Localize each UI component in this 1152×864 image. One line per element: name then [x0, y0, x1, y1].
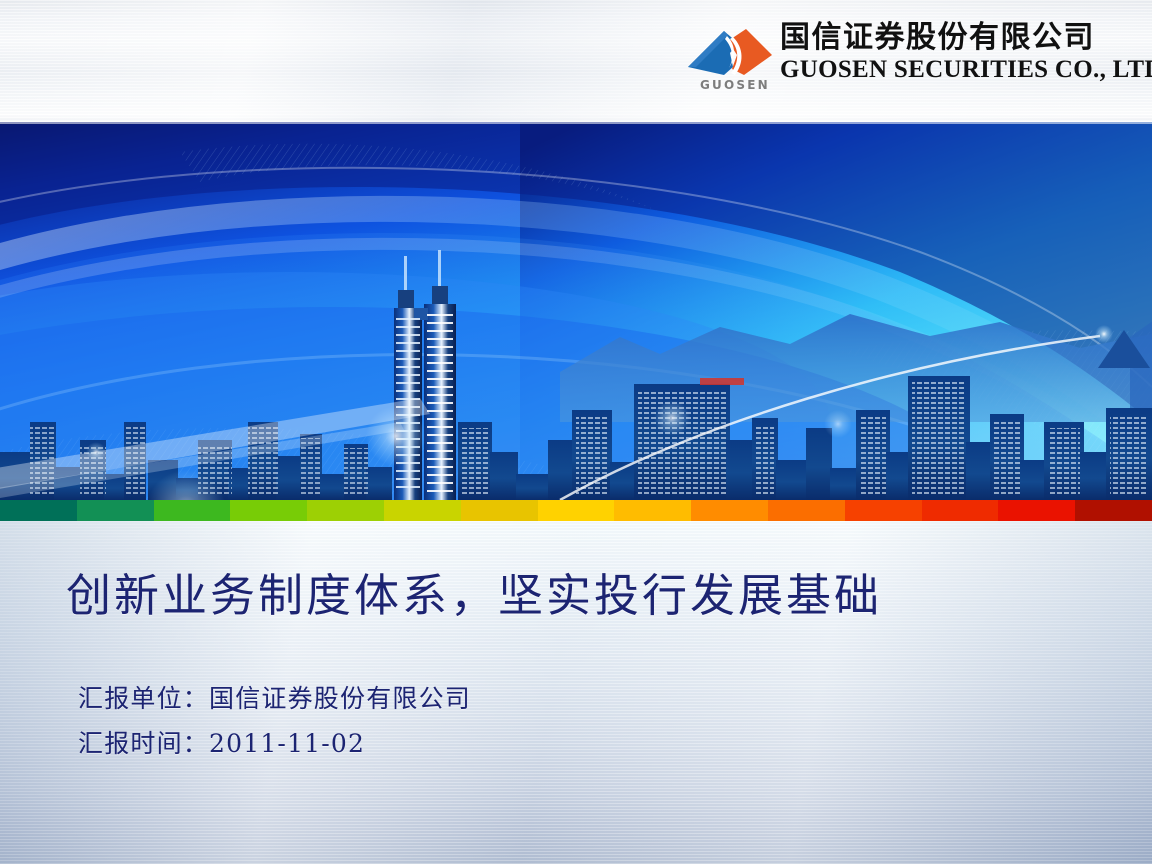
colorbar-segment-0	[0, 500, 77, 521]
colorbar-segment-12	[922, 500, 999, 521]
reporting-unit-line: 汇报单位：国信证券股份有限公司	[78, 682, 471, 716]
slide-text-layer: 创新业务制度体系，坚实投行发展基础 汇报单位：国信证券股份有限公司 汇报时间：2…	[0, 521, 1152, 864]
logo-wordmark: 国信证券股份有限公司 GUOSEN SECURITIES CO., LTD.	[780, 21, 1152, 83]
colorbar-segment-9	[691, 500, 768, 521]
colorbar-segment-13	[998, 500, 1075, 521]
colorbar-segment-1	[77, 500, 154, 521]
svg-text:GUOSEN: GUOSEN	[700, 78, 770, 92]
company-name-en: GUOSEN SECURITIES CO., LTD.	[780, 56, 1152, 83]
colorbar-segment-5	[384, 500, 461, 521]
colorbar-segment-4	[307, 500, 384, 521]
page-title: 创新业务制度体系，坚实投行发展基础	[66, 568, 882, 624]
colorbar-segment-3	[230, 500, 307, 521]
banner-artwork	[0, 122, 1152, 500]
rainbow-divider	[0, 500, 1152, 521]
colorbar-segment-6	[461, 500, 538, 521]
colorbar-segment-8	[614, 500, 691, 521]
colorbar-segment-11	[845, 500, 922, 521]
presentation-slide: GUOSEN 国信证券股份有限公司 GUOSEN SECURITIES CO.,…	[0, 0, 1152, 864]
guosen-diamond-logo-icon: GUOSEN	[684, 23, 776, 93]
colorbar-segment-14	[1075, 500, 1152, 521]
colorbar-segment-7	[538, 500, 615, 521]
colorbar-segment-10	[768, 500, 845, 521]
reporting-date-line: 汇报时间：2011-11-02	[78, 727, 365, 761]
colorbar-segment-2	[154, 500, 231, 521]
city-skyline-banner	[0, 122, 1152, 500]
company-name-cn: 国信证券股份有限公司	[780, 22, 1152, 54]
company-logo: GUOSEN 国信证券股份有限公司 GUOSEN SECURITIES CO.,…	[684, 21, 1152, 97]
